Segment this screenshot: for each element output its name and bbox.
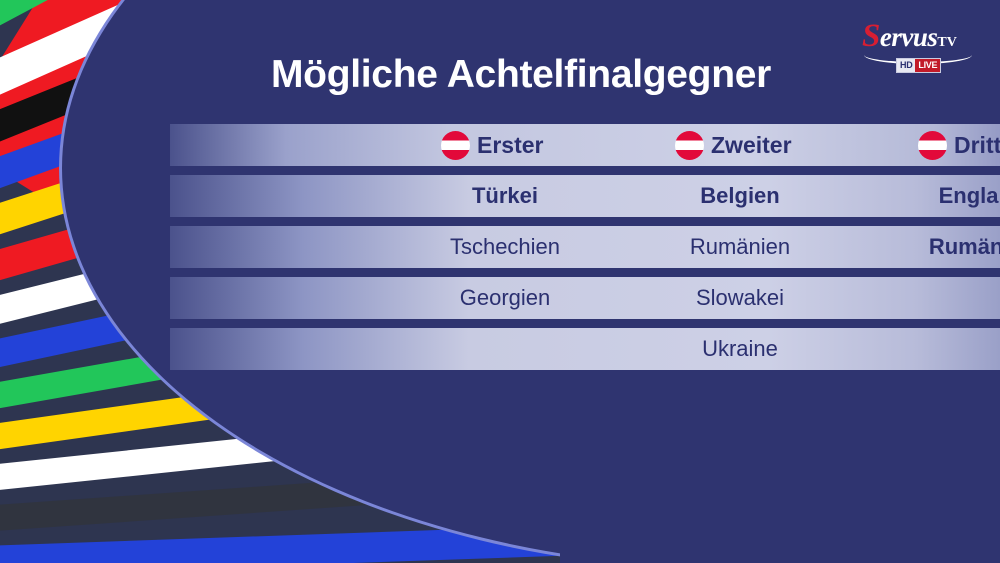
broadcast-graphic: Mögliche Achtelfinalgegner ServusTV HD L… — [0, 0, 1000, 563]
live-label: LIVE — [915, 59, 940, 72]
page-title: Mögliche Achtelfinalgegner — [271, 53, 771, 97]
table-cell: Rumänien — [812, 226, 1000, 268]
opponents-table: Erster Zweiter Dritter Türkei Belgien En… — [170, 124, 1000, 379]
column-header-first: Erster — [441, 124, 543, 166]
column-header-label: Erster — [477, 132, 543, 159]
servustv-logo: ServusTV HD LIVE — [862, 18, 980, 76]
column-header-second: Zweiter — [675, 124, 792, 166]
column-header-label: Zweiter — [711, 132, 792, 159]
hd-live-badge: HD LIVE — [896, 58, 941, 73]
table-cell — [812, 277, 1000, 319]
table-row: Ukraine — [170, 328, 1000, 370]
hd-label: HD — [897, 59, 915, 72]
column-header-third: Dritter — [918, 124, 1000, 166]
table-row: Türkei Belgien England — [170, 175, 1000, 217]
table-cell: England — [812, 175, 1000, 217]
austria-flag-icon — [918, 131, 947, 160]
austria-flag-icon — [441, 131, 470, 160]
table-header-row: Erster Zweiter Dritter — [170, 124, 1000, 166]
column-header-label: Dritter — [954, 132, 1000, 159]
table-row: Georgien Slowakei — [170, 277, 1000, 319]
table-cell — [812, 328, 1000, 370]
table-row: Tschechien Rumänien Rumänien — [170, 226, 1000, 268]
austria-flag-icon — [675, 131, 704, 160]
